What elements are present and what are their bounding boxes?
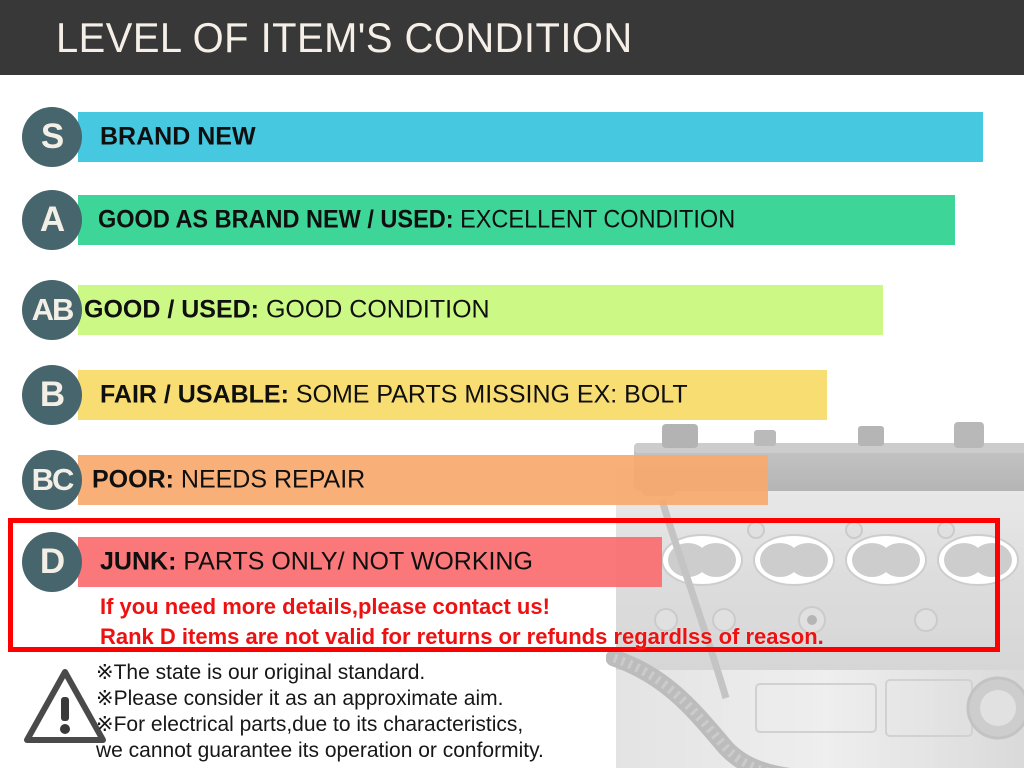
footer-note-3: ※For electrical parts,due to its charact…	[96, 712, 544, 738]
rank-label-ab: GOOD / USED: GOOD CONDITION	[84, 296, 490, 325]
rank-label-s: BRAND NEW	[100, 123, 256, 152]
rank-badge-letter: BC	[32, 462, 73, 498]
rank-badge-bc: BC	[22, 450, 82, 510]
header-bar: LEVEL OF ITEM'S CONDITION	[0, 0, 1024, 75]
condition-level-infographic: LEVEL OF ITEM'S CONDITION S BRAND NEW A …	[0, 0, 1024, 768]
rank-bold-label: POOR:	[92, 466, 174, 494]
footer-note-1: ※The state is our original standard.	[96, 660, 544, 686]
footer-note-2: ※Please consider it as an approximate ai…	[96, 686, 544, 712]
rank-detail-label: GOOD CONDITION	[259, 296, 490, 324]
rank-badge-letter: A	[40, 200, 64, 240]
rank-label-bc: POOR: NEEDS REPAIR	[92, 466, 365, 495]
rank-label-a: GOOD AS BRAND NEW / USED: EXCELLENT COND…	[98, 206, 735, 235]
footer-note-4: we cannot guarantee its operation or con…	[96, 738, 544, 764]
rank-badge-d: D	[22, 532, 82, 592]
warning-line-1: If you need more details,please contact …	[100, 592, 824, 622]
rank-badge-letter: AB	[32, 292, 73, 328]
rank-bold-label: BRAND NEW	[100, 123, 256, 151]
rank-label-d: JUNK: PARTS ONLY/ NOT WORKING	[100, 548, 533, 577]
rank-badge-letter: S	[41, 117, 63, 157]
rank-bold-label: FAIR / USABLE:	[100, 381, 289, 409]
rank-badge-b: B	[22, 365, 82, 425]
rank-badge-s: S	[22, 107, 82, 167]
warning-line-2: Rank D items are not valid for returns o…	[100, 622, 824, 652]
rank-bold-label: GOOD AS BRAND NEW / USED:	[98, 206, 454, 234]
rank-bold-label: JUNK:	[100, 548, 176, 576]
rank-bold-label: GOOD / USED:	[84, 296, 259, 324]
rank-badge-letter: B	[40, 375, 64, 415]
rank-label-b: FAIR / USABLE: SOME PARTS MISSING EX: BO…	[100, 381, 688, 410]
page-title: LEVEL OF ITEM'S CONDITION	[56, 15, 633, 61]
rank-detail-label: EXCELLENT CONDITION	[454, 206, 736, 234]
rank-detail-label: SOME PARTS MISSING EX: BOLT	[289, 381, 688, 409]
rank-badge-a: A	[22, 190, 82, 250]
rank-badge-letter: D	[40, 542, 64, 582]
rank-badge-ab: AB	[22, 280, 82, 340]
footer-notes: ※The state is our original standard. ※Pl…	[96, 660, 544, 764]
rank-detail-label: NEEDS REPAIR	[174, 466, 365, 494]
rank-detail-label: PARTS ONLY/ NOT WORKING	[176, 548, 533, 576]
rank-d-warning-text: If you need more details,please contact …	[100, 592, 824, 652]
